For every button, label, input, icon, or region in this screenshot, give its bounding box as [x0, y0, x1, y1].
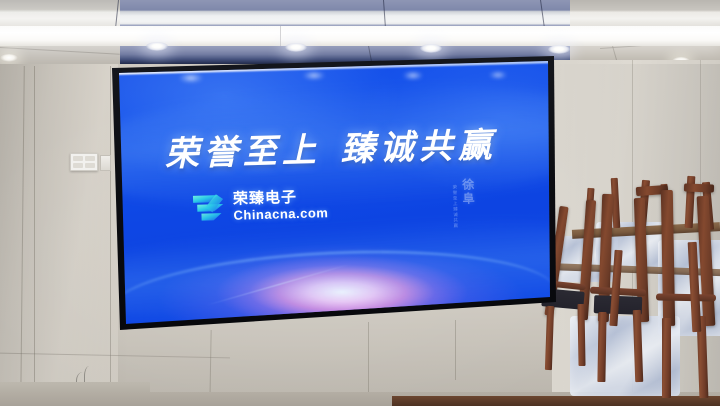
recessed-downlight	[548, 45, 570, 54]
company-logo: 荣臻电子 Chinacna.com	[192, 184, 483, 224]
slide-slogan: 荣誉至上臻诚共赢	[104, 116, 559, 178]
chair-leg	[662, 318, 671, 398]
chair-leg	[597, 312, 606, 382]
outlet-socket	[85, 156, 95, 161]
outlet-socket	[73, 156, 83, 161]
chinacna-arrow-logo-icon	[192, 191, 227, 224]
slogan-gap	[321, 161, 341, 162]
watermark-big-text: 徐阜	[460, 178, 478, 206]
recessed-downlight	[146, 42, 168, 51]
slogan-left: 荣誉至上	[164, 132, 321, 173]
chair-backrest	[684, 183, 714, 192]
chair-leg	[577, 304, 585, 366]
slide-content: 荣誉至上臻诚共赢	[104, 56, 560, 336]
meeting-room-photo: 荣誉至上臻诚共赢	[0, 0, 720, 406]
slide-watermark: 荣誉至上臻诚共赢 徐阜	[452, 178, 478, 229]
slogan-right: 臻诚共赢	[340, 127, 497, 168]
light-bar-seam	[280, 26, 281, 46]
watermark-small-text: 荣誉至上臻诚共赢	[452, 178, 459, 228]
logo-text-block: 荣臻电子 Chinacna.com	[233, 189, 329, 222]
display-screen[interactable]: 荣誉至上臻诚共赢	[104, 56, 560, 336]
wall-outlet-upper-left[interactable]	[70, 153, 98, 171]
outlet-socket	[73, 163, 83, 168]
recessed-downlight	[285, 43, 307, 52]
chair-backrest	[661, 190, 675, 326]
wall-seam-left-2	[34, 66, 35, 406]
linear-ceiling-light	[0, 26, 720, 46]
logo-company-name: 荣臻电子	[233, 189, 328, 207]
logo-website: Chinacna.com	[233, 206, 328, 222]
chair-armrest	[656, 293, 716, 301]
outlet-socket	[85, 163, 95, 168]
recessed-downlight	[420, 44, 442, 53]
wall-mounted-led-display[interactable]: 荣誉至上臻诚共赢	[104, 56, 560, 336]
recessed-downlight	[0, 54, 18, 62]
